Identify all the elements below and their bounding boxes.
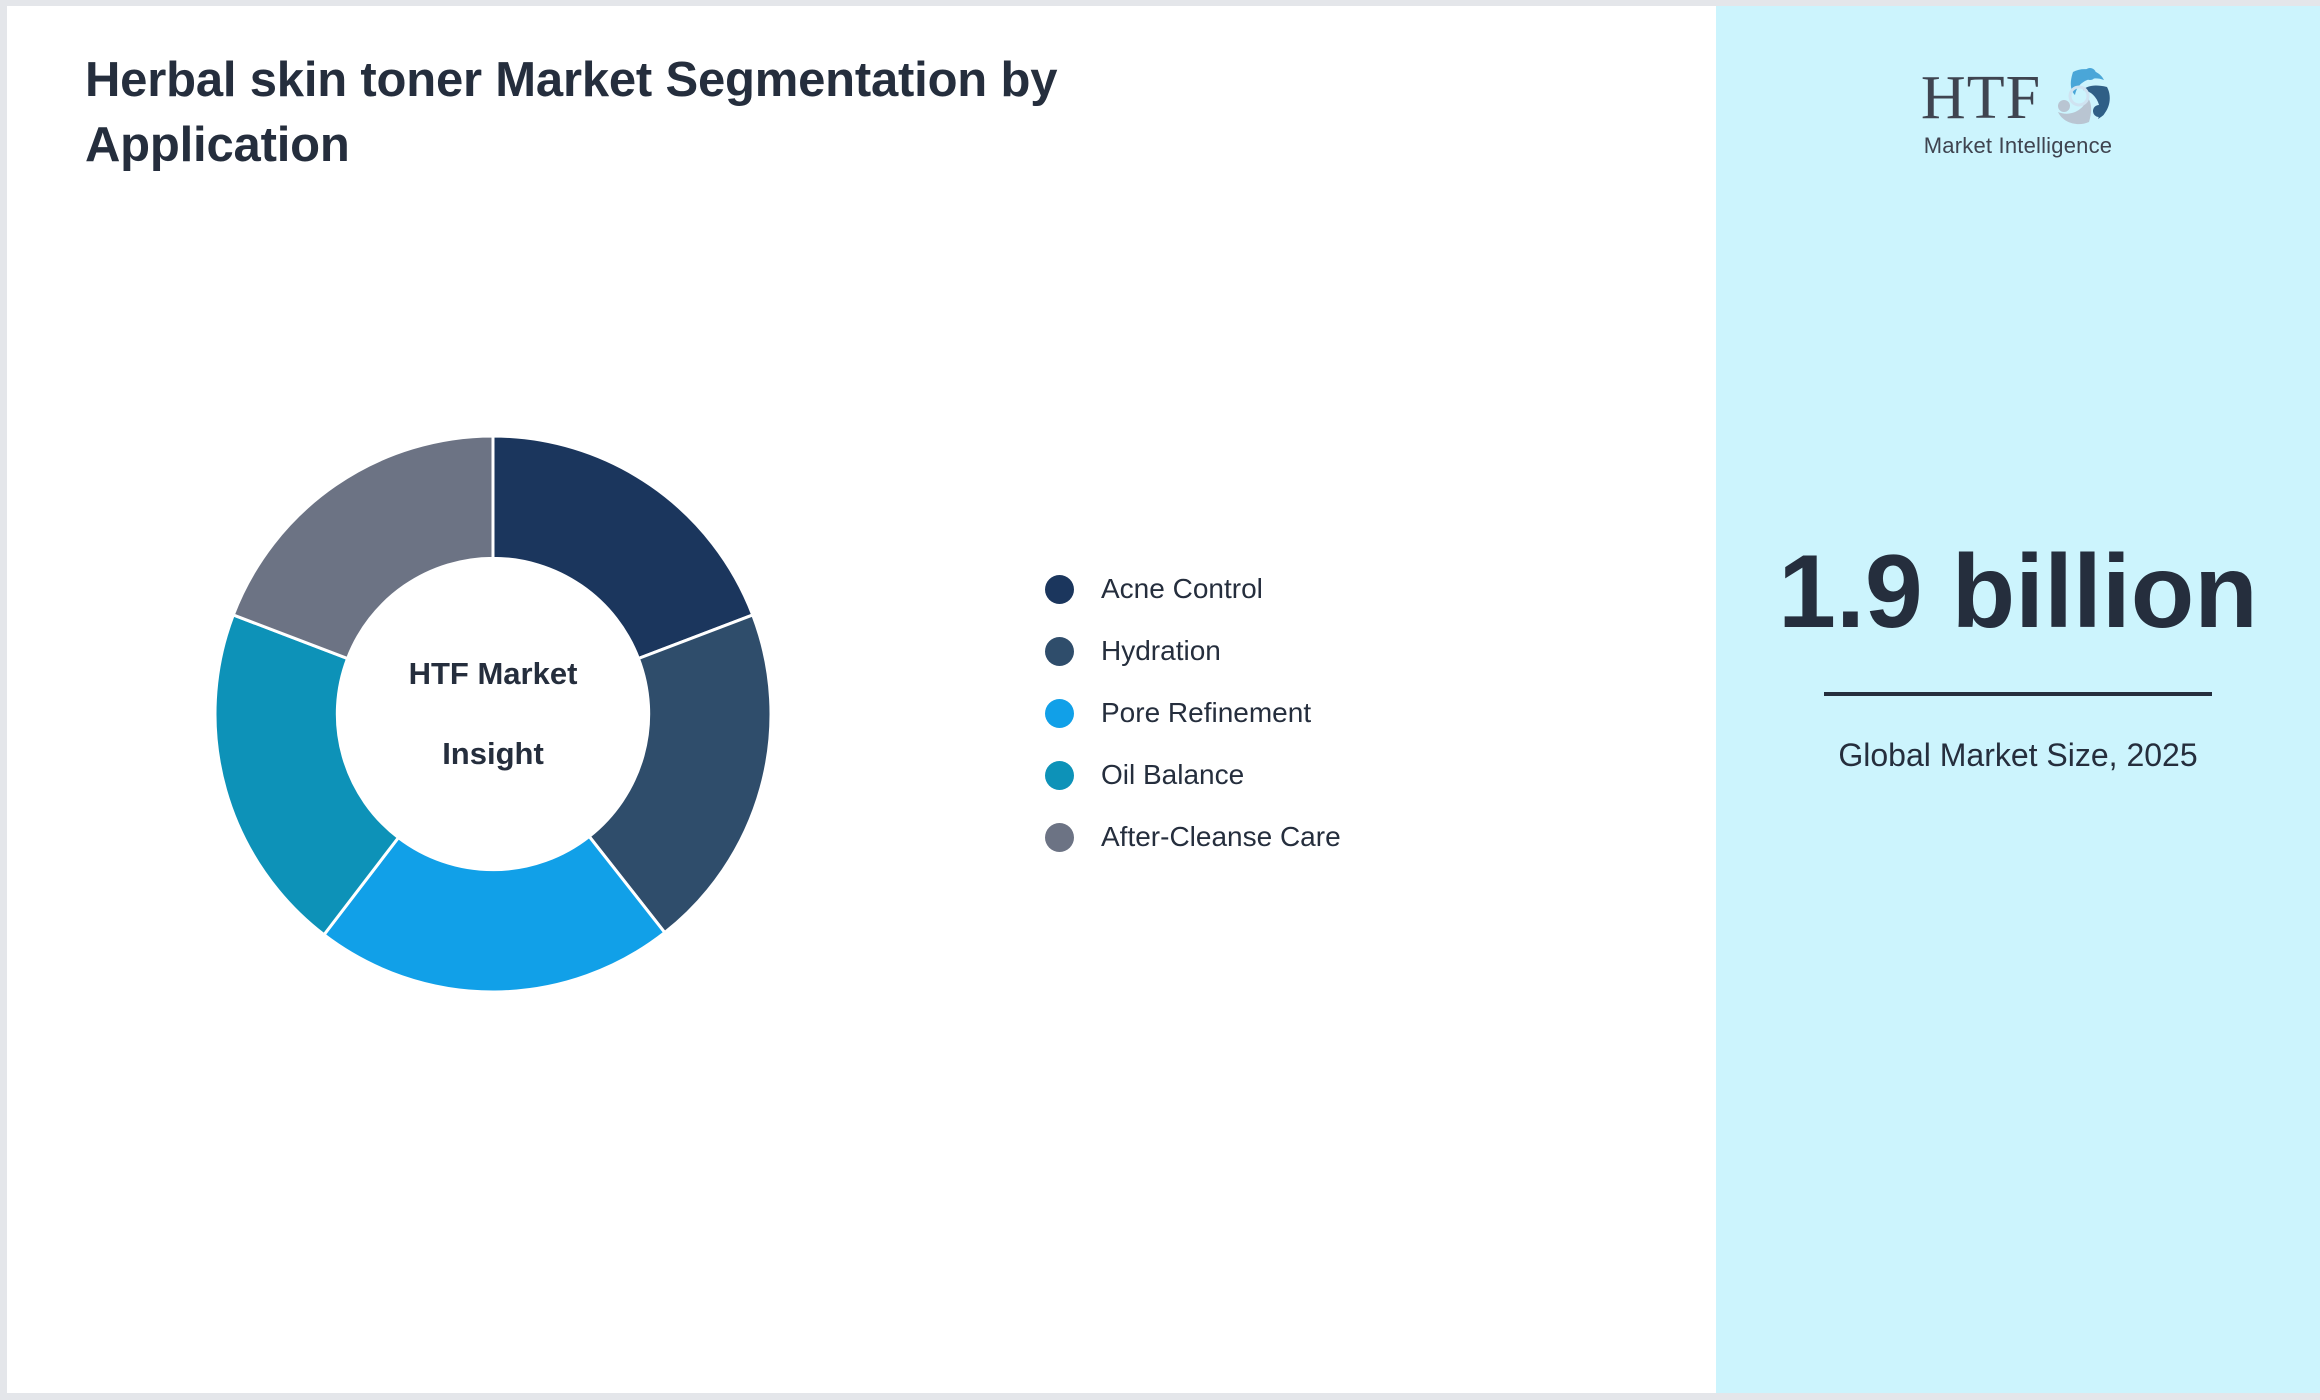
stat-value: 1.9 billion bbox=[1716, 536, 2320, 648]
legend-dot-icon bbox=[1045, 575, 1074, 604]
donut-chart: HTF MarketInsight bbox=[205, 426, 781, 1002]
infographic-canvas: Herbal skin toner Market Segmentation by… bbox=[0, 0, 2320, 1400]
legend-item-after-cleanse-care[interactable]: After-Cleanse Care bbox=[1045, 806, 1341, 868]
legend-item-label: Pore Refinement bbox=[1101, 697, 1311, 729]
legend-item-hydration[interactable]: Hydration bbox=[1045, 620, 1341, 682]
donut-slice[interactable] bbox=[233, 436, 493, 659]
brand-logo[interactable]: HTF Market Intelligence bbox=[1716, 64, 2320, 159]
donut-slice-group bbox=[215, 436, 771, 992]
chart-legend: Acne Control Hydration Pore Refinement O… bbox=[1045, 558, 1341, 868]
donut-slice[interactable] bbox=[493, 436, 753, 659]
logo-mark: HTF bbox=[1921, 64, 2115, 129]
legend-dot-icon bbox=[1045, 699, 1074, 728]
legend-dot-icon bbox=[1045, 823, 1074, 852]
legend-item-label: Acne Control bbox=[1101, 573, 1263, 605]
legend-item-acne-control[interactable]: Acne Control bbox=[1045, 558, 1341, 620]
legend-item-label: Hydration bbox=[1101, 635, 1221, 667]
htf-swirl-logo-icon bbox=[2043, 64, 2115, 126]
legend-item-oil-balance[interactable]: Oil Balance bbox=[1045, 744, 1341, 806]
donut-chart-svg bbox=[205, 426, 781, 1002]
stat-block: 1.9 billion Global Market Size, 2025 bbox=[1716, 536, 2320, 777]
stat-caption: Global Market Size, 2025 bbox=[1716, 734, 2320, 776]
stat-side-panel: HTF Market Intelligence 1.9 billion Glob… bbox=[1716, 6, 2320, 1393]
page-title: Herbal skin toner Market Segmentation by… bbox=[85, 48, 1185, 177]
legend-item-pore-refinement[interactable]: Pore Refinement bbox=[1045, 682, 1341, 744]
logo-wordmark: HTF bbox=[1921, 67, 2041, 129]
stat-divider bbox=[1824, 692, 2212, 696]
legend-item-label: Oil Balance bbox=[1101, 759, 1244, 791]
legend-dot-icon bbox=[1045, 761, 1074, 790]
logo-tagline: Market Intelligence bbox=[1924, 133, 2112, 159]
legend-item-label: After-Cleanse Care bbox=[1101, 821, 1341, 853]
legend-dot-icon bbox=[1045, 637, 1074, 666]
main-content-panel: Herbal skin toner Market Segmentation by… bbox=[7, 6, 1716, 1393]
